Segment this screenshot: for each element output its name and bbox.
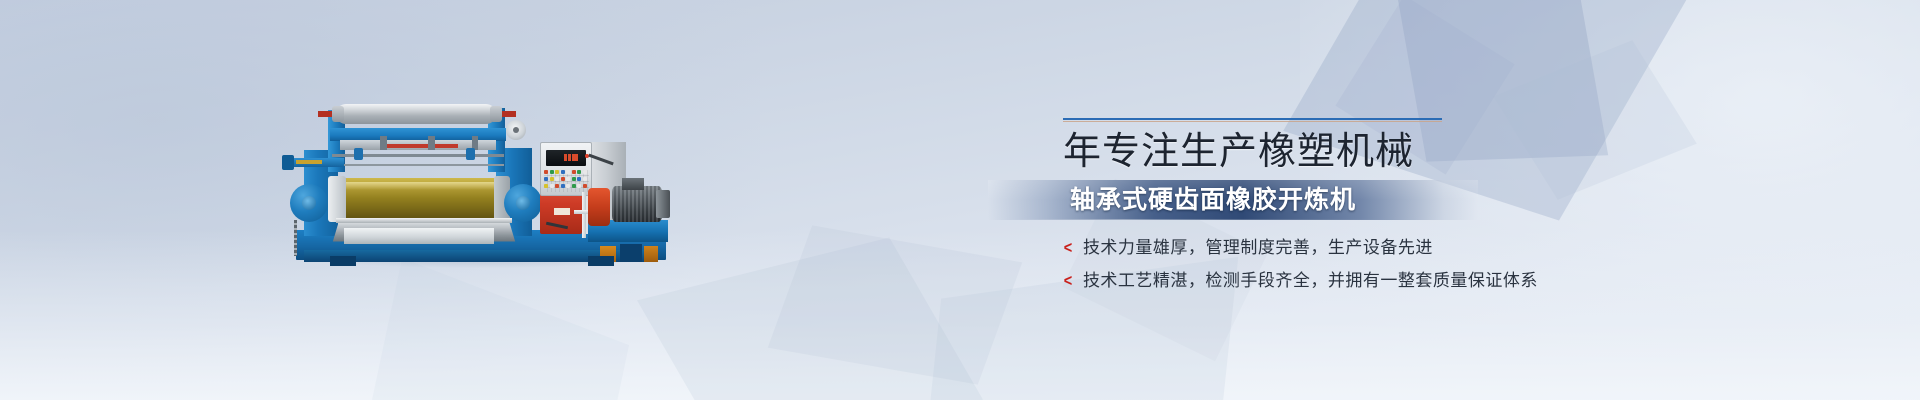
machine-control-button bbox=[577, 170, 581, 174]
machine-guard-tab-2 bbox=[428, 136, 435, 150]
machine-control-button bbox=[550, 170, 554, 174]
machine-base-block-right bbox=[644, 246, 658, 262]
machine-control-display-digits bbox=[564, 154, 578, 161]
machine-control-button bbox=[561, 184, 565, 188]
machine-control-button bbox=[544, 177, 548, 181]
machine-control-button bbox=[550, 184, 554, 188]
machine-guard-tab-1 bbox=[380, 136, 387, 150]
feature-list: < 技术力量雄厚，管理制度完善，生产设备先进 < 技术工艺精湛，检测手段齐全，并… bbox=[1063, 238, 1583, 291]
machine-motor-end-cap bbox=[656, 190, 670, 218]
chevron-left-icon: < bbox=[1064, 239, 1072, 257]
banner-subtitle: 轴承式硬齿面橡胶开炼机 bbox=[1070, 180, 1356, 220]
machine-control-button bbox=[583, 170, 587, 174]
machine-control-button bbox=[555, 177, 559, 181]
machine-control-button bbox=[544, 184, 548, 188]
banner-subtitle-bar: 轴承式硬齿面橡胶开炼机 bbox=[988, 180, 1478, 220]
machine-fan-hub bbox=[513, 127, 519, 133]
machine-tie-rod-lower bbox=[332, 164, 504, 166]
feature-list-item: < 技术力量雄厚，管理制度完善，生产设备先进 bbox=[1063, 238, 1583, 258]
headline-divider-accent bbox=[1063, 121, 1442, 122]
machine-control-button bbox=[572, 170, 576, 174]
machine-foot-right bbox=[588, 256, 614, 266]
machine-motor-terminal-box bbox=[622, 178, 644, 190]
machine-control-button bbox=[561, 177, 565, 181]
chevron-left-icon: < bbox=[1064, 272, 1072, 290]
machine-control-button bbox=[572, 184, 576, 188]
promo-banner: 年专注生产橡塑机械 轴承式硬齿面橡胶开炼机 < 技术力量雄厚，管理制度完善，生产… bbox=[0, 0, 1920, 400]
decorative-polygon-bottom-1 bbox=[637, 237, 983, 400]
machine-pipe-vertical bbox=[582, 192, 586, 238]
feature-list-item: < 技术工艺精湛，检测手段齐全，并拥有一整套质量保证体系 bbox=[1063, 271, 1583, 291]
machine-control-button bbox=[561, 170, 565, 174]
machine-top-roller bbox=[336, 104, 496, 124]
machine-control-button bbox=[583, 184, 587, 188]
machine-control-button bbox=[555, 170, 559, 174]
headline-divider bbox=[1063, 118, 1442, 122]
machine-control-button bbox=[550, 177, 554, 181]
feature-text: 技术工艺精湛，检测手段齐全，并拥有一整套质量保证体系 bbox=[1083, 271, 1538, 291]
machine-tray-pan bbox=[344, 228, 494, 244]
decorative-polygon-bottom-2 bbox=[768, 225, 1022, 384]
banner-headline: 年专注生产橡塑机械 bbox=[1063, 128, 1583, 174]
machine-control-button bbox=[544, 170, 548, 174]
machine-base-recess bbox=[620, 244, 642, 262]
machine-safety-chain bbox=[294, 220, 297, 256]
machine-adjust-knob-left bbox=[354, 148, 363, 160]
machine-adjust-knob-right bbox=[466, 148, 475, 160]
machine-control-buttons bbox=[544, 170, 589, 192]
machine-tray-lip bbox=[336, 218, 512, 223]
machine-side-arm-cap bbox=[282, 155, 294, 170]
machine-roller-cap-left bbox=[328, 176, 346, 222]
machine-red-unit-plate bbox=[554, 208, 570, 215]
machine-foot-left bbox=[330, 256, 356, 266]
feature-text: 技术力量雄厚，管理制度完善，生产设备先进 bbox=[1083, 238, 1433, 258]
machine-main-roller-highlight bbox=[340, 182, 500, 190]
machine-control-button bbox=[566, 170, 570, 174]
machine-control-button bbox=[583, 177, 587, 181]
machine-top-roller-cap-right bbox=[490, 106, 502, 122]
machine-control-button bbox=[572, 177, 576, 181]
machine-control-button bbox=[566, 184, 570, 188]
product-image-rubber-mixing-mill bbox=[288, 92, 680, 264]
machine-motor-cooling-fins bbox=[612, 186, 662, 222]
machine-control-button bbox=[566, 177, 570, 181]
decorative-polygon-bottom-center bbox=[371, 258, 629, 400]
machine-safety-guard-stripe bbox=[384, 144, 458, 148]
machine-control-button bbox=[555, 184, 559, 188]
machine-side-arm-tip bbox=[296, 160, 322, 164]
headline-divider-primary bbox=[1063, 118, 1442, 120]
machine-control-button bbox=[577, 184, 581, 188]
machine-bearing-hub-left bbox=[302, 196, 316, 210]
machine-motor-pulley bbox=[588, 188, 610, 226]
machine-top-roller-cap-left bbox=[332, 106, 344, 122]
machine-control-button bbox=[577, 177, 581, 181]
banner-text-block: 年专注生产橡塑机械 轴承式硬齿面橡胶开炼机 < 技术力量雄厚，管理制度完善，生产… bbox=[1063, 118, 1583, 307]
machine-bearing-hub-right bbox=[516, 196, 530, 210]
